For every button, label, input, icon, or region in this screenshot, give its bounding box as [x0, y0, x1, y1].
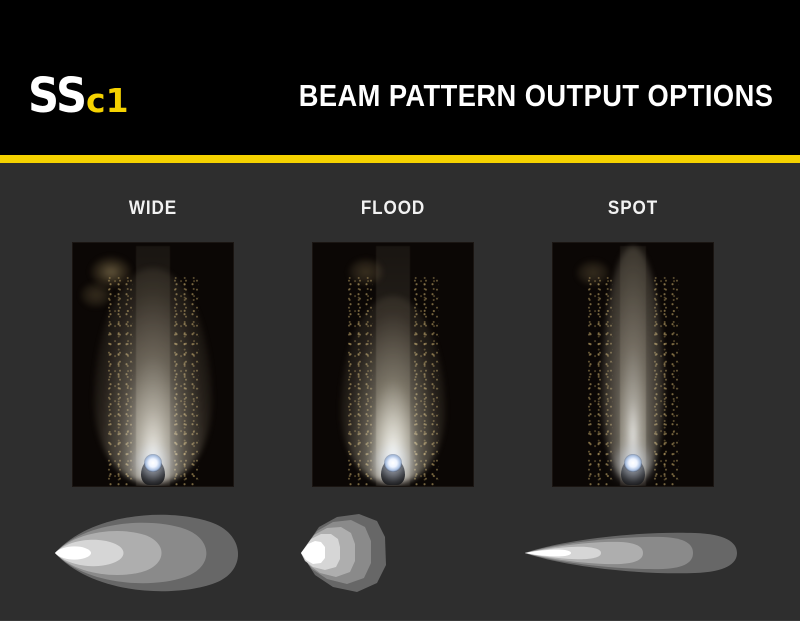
logo-secondary-text: c1 [86, 81, 129, 120]
light-source-glare [624, 454, 642, 472]
beam-column-spot: SPOT [513, 163, 753, 621]
accent-divider [0, 155, 800, 163]
beam-photo-spot [553, 243, 713, 486]
beam-photo-wide [73, 243, 233, 486]
poster-header: SSc1 BEAM PATTERN OUTPUT OPTIONS [0, 0, 800, 155]
beam-diagram-spot [513, 503, 753, 603]
light-source-glare [144, 454, 162, 472]
beam-label-spot: SPOT [525, 198, 741, 220]
beam-column-flood: FLOOD [273, 163, 513, 621]
beam-label-wide: WIDE [45, 198, 261, 220]
page-title: BEAM PATTERN OUTPUT OPTIONS [298, 78, 773, 114]
beam-pattern-poster: SSc1 BEAM PATTERN OUTPUT OPTIONS WIDE [0, 0, 800, 621]
beam-photo-flood [313, 243, 473, 486]
beam-diagram-wide [33, 503, 273, 603]
beam-column-wide: WIDE [33, 163, 273, 621]
beam-diagram-flood [273, 503, 513, 603]
ssc1-logo: SSc1 [28, 72, 129, 120]
light-source-glare [384, 454, 402, 472]
logo-primary-text: SS [28, 68, 86, 124]
beam-label-flood: FLOOD [285, 198, 501, 220]
